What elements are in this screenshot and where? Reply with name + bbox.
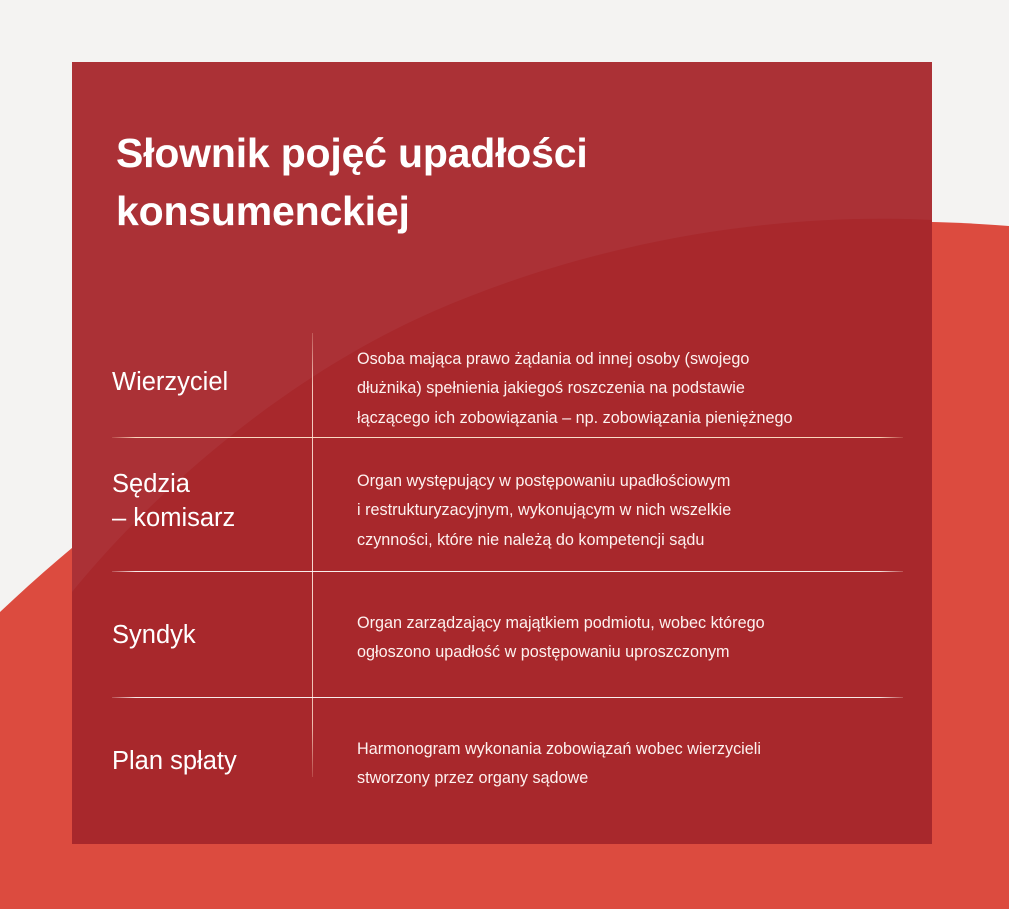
row-divider bbox=[112, 697, 903, 698]
glossary-term: Sędzia – komisarz bbox=[112, 468, 302, 535]
glossary-definition: Osoba mająca prawo żądania od innej osob… bbox=[357, 345, 917, 433]
table-row: Syndyk Organ zarządzający majątkiem podm… bbox=[72, 595, 932, 697]
glossary-card: Słownik pojęć upadłości konsumenckiej Wi… bbox=[72, 62, 932, 844]
table-row: Plan spłaty Harmonogram wykonania zobowi… bbox=[72, 721, 932, 821]
glossary-term: Plan spłaty bbox=[112, 745, 302, 779]
row-divider bbox=[112, 437, 903, 438]
glossary-definition: Organ zarządzający majątkiem podmiotu, w… bbox=[357, 609, 917, 668]
glossary-table: Wierzyciel Osoba mająca prawo żądania od… bbox=[72, 62, 932, 844]
table-row: Wierzyciel Osoba mająca prawo żądania od… bbox=[72, 334, 932, 437]
infographic-canvas: Słownik pojęć upadłości konsumenckiej Wi… bbox=[0, 0, 1009, 909]
glossary-term: Wierzyciel bbox=[112, 366, 302, 400]
table-row: Sędzia – komisarz Organ występujący w po… bbox=[72, 461, 932, 571]
row-divider bbox=[112, 571, 903, 572]
glossary-term: Syndyk bbox=[112, 619, 302, 653]
glossary-definition: Organ występujący w postępowaniu upadłoś… bbox=[357, 467, 917, 555]
glossary-definition: Harmonogram wykonania zobowiązań wobec w… bbox=[357, 735, 917, 794]
